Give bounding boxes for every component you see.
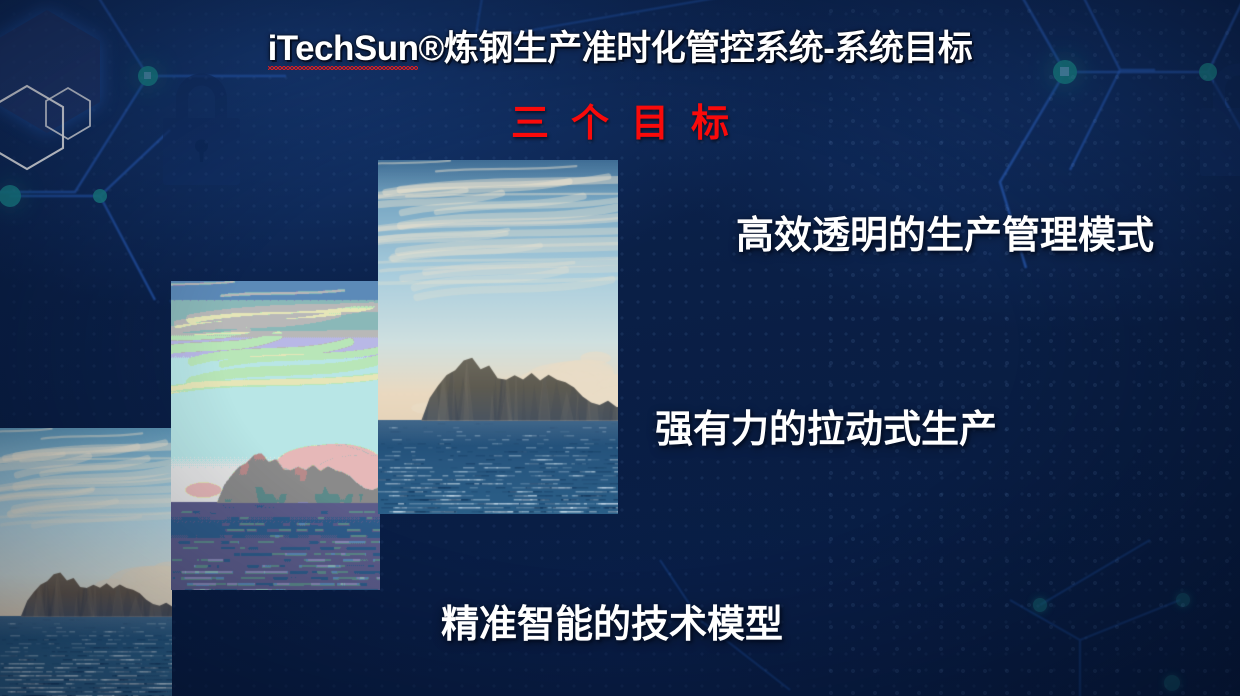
- goal-item-1: 高效透明的生产管理模式: [736, 204, 1154, 259]
- photo-coastal-right: [378, 160, 618, 514]
- photo-coastal-middle: [171, 281, 380, 590]
- goal-item-3: 精准智能的技术模型: [441, 593, 783, 648]
- slide-subtitle: 三个目标: [0, 92, 1240, 147]
- slide-title-rest: ®炼钢生产准时化管控系统-系统目标: [418, 29, 972, 68]
- slide-title-brand: iTechSun: [268, 29, 419, 69]
- slide-title: iTechSun®炼钢生产准时化管控系统-系统目标: [0, 20, 1240, 71]
- goal-item-2: 强有力的拉动式生产: [655, 398, 997, 453]
- presentation-slide: iTechSun®炼钢生产准时化管控系统-系统目标 三个目标 高效透明的生产管理…: [0, 0, 1240, 696]
- photo-coastal-left: [0, 428, 172, 696]
